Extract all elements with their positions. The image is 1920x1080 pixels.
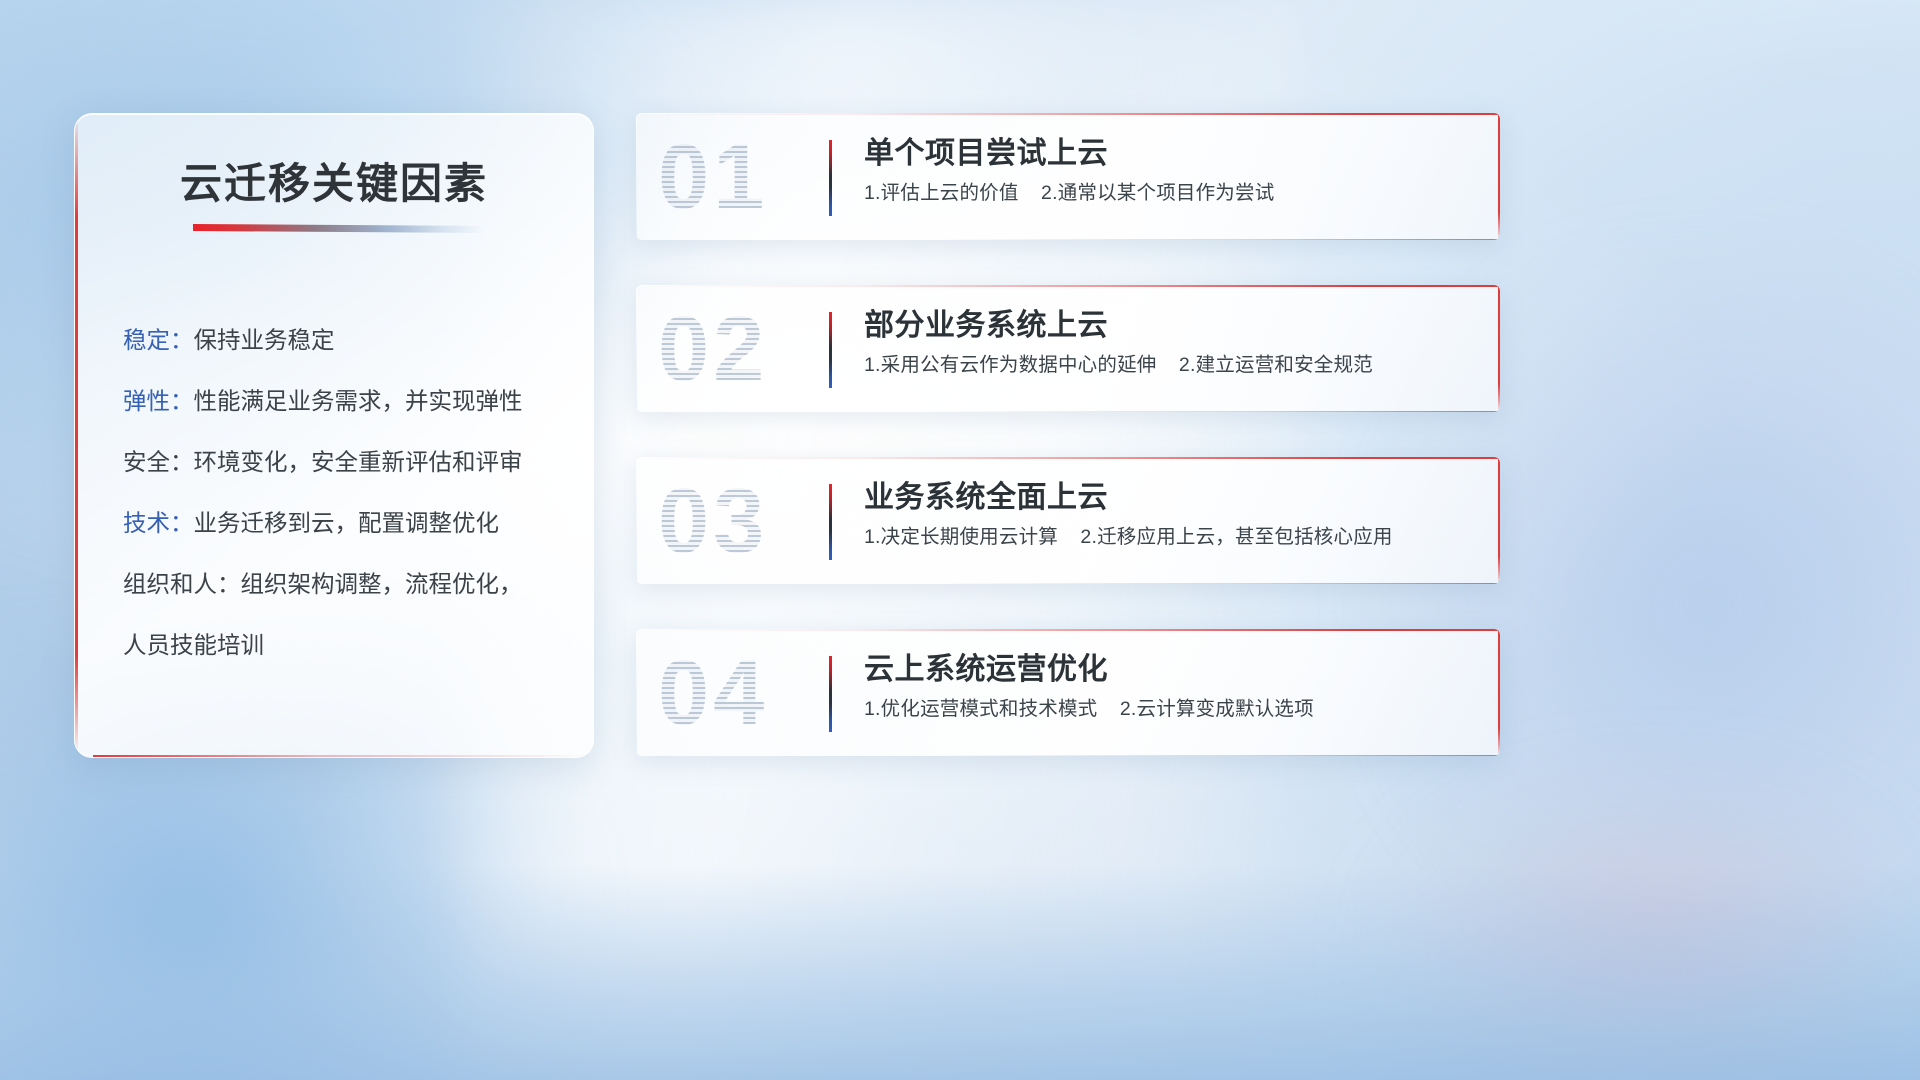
step-subtitle: 1.评估上云的价值 2.通常以某个项目作为尝试 bbox=[864, 175, 1476, 211]
step-card[interactable]: 01 01 单个项目尝试上云 1.评估上云的价值 2.通常以某个项目作为尝试 bbox=[636, 113, 1500, 240]
step-divider-line bbox=[829, 140, 832, 216]
list-item: 人员技能培训 bbox=[123, 615, 567, 676]
list-item-value: 性能满足业务需求，并实现弹性 bbox=[194, 388, 523, 414]
page-title: 云迁移关键因素 bbox=[75, 150, 593, 211]
step-title: 部分业务系统上云 bbox=[864, 305, 1476, 347]
key-factors-card: 云迁移关键因素 稳定：保持业务稳定 弹性：性能满足业务需求，并实现弹性 安全：环… bbox=[74, 113, 594, 758]
card-bottom-accent-line bbox=[930, 239, 1500, 240]
card-right-accent-line bbox=[1498, 629, 1500, 756]
card-left-edge bbox=[636, 457, 637, 584]
step-body: 业务系统全面上云 1.决定长期使用云计算 2.迁移应用上云，甚至包括核心应用 bbox=[864, 477, 1476, 555]
card-top-accent-line bbox=[636, 457, 1500, 459]
card-left-edge bbox=[636, 285, 637, 412]
card-left-edge bbox=[636, 629, 637, 756]
step-body: 部分业务系统上云 1.采用公有云作为数据中心的延伸 2.建立运营和安全规范 bbox=[864, 305, 1476, 383]
list-item: 安全：环境变化，安全重新评估和评审 bbox=[123, 432, 567, 493]
card-bottom-accent-line bbox=[930, 583, 1500, 584]
step-number: 02 bbox=[658, 303, 768, 395]
title-underline-rule bbox=[193, 224, 485, 233]
list-item: 弹性：性能满足业务需求，并实现弹性 bbox=[123, 371, 567, 432]
list-item-value: 环境变化，安全重新评估和评审 bbox=[194, 449, 523, 475]
card-right-accent-line bbox=[1498, 285, 1500, 412]
step-subtitle: 1.决定长期使用云计算 2.迁移应用上云，甚至包括核心应用 bbox=[864, 519, 1476, 555]
card-right-accent-line bbox=[1498, 113, 1500, 240]
step-subtitle: 1.优化运营模式和技术模式 2.云计算变成默认选项 bbox=[864, 691, 1476, 727]
key-factors-list: 稳定：保持业务稳定 弹性：性能满足业务需求，并实现弹性 安全：环境变化，安全重新… bbox=[123, 310, 567, 676]
list-item-key: 稳定： bbox=[123, 327, 194, 353]
list-item-value: 保持业务稳定 bbox=[194, 327, 335, 353]
step-number: 04 bbox=[658, 647, 768, 739]
card-left-edge bbox=[636, 113, 637, 240]
step-divider-line bbox=[829, 656, 832, 732]
list-item-value: 人员技能培训 bbox=[123, 632, 264, 658]
list-item-key: 安全： bbox=[123, 449, 194, 475]
step-title: 云上系统运营优化 bbox=[864, 649, 1476, 691]
step-body: 云上系统运营优化 1.优化运营模式和技术模式 2.云计算变成默认选项 bbox=[864, 649, 1476, 727]
step-divider-line bbox=[829, 312, 832, 388]
list-item-value: 业务迁移到云，配置调整优化 bbox=[194, 510, 500, 536]
list-item: 稳定：保持业务稳定 bbox=[123, 310, 567, 371]
card-right-accent-line bbox=[1498, 457, 1500, 584]
step-divider-line bbox=[829, 484, 832, 560]
card-bottom-accent-line bbox=[930, 411, 1500, 412]
step-title: 单个项目尝试上云 bbox=[864, 133, 1476, 175]
card-top-accent-line bbox=[636, 629, 1500, 631]
slide-stage: 云迁移关键因素 稳定：保持业务稳定 弹性：性能满足业务需求，并实现弹性 安全：环… bbox=[0, 0, 1920, 1080]
step-number: 01 bbox=[658, 131, 768, 223]
step-card[interactable]: 02 02 部分业务系统上云 1.采用公有云作为数据中心的延伸 2.建立运营和安… bbox=[636, 285, 1500, 412]
step-body: 单个项目尝试上云 1.评估上云的价值 2.通常以某个项目作为尝试 bbox=[864, 133, 1476, 211]
step-card[interactable]: 03 03 业务系统全面上云 1.决定长期使用云计算 2.迁移应用上云，甚至包括… bbox=[636, 457, 1500, 584]
list-item: 技术：业务迁移到云，配置调整优化 bbox=[123, 493, 567, 554]
step-card[interactable]: 04 04 云上系统运营优化 1.优化运营模式和技术模式 2.云计算变成默认选项 bbox=[636, 629, 1500, 756]
list-item-key: 弹性： bbox=[123, 388, 194, 414]
list-item-value: 组织架构调整，流程优化， bbox=[241, 571, 523, 597]
step-subtitle: 1.采用公有云作为数据中心的延伸 2.建立运营和安全规范 bbox=[864, 347, 1476, 383]
step-title: 业务系统全面上云 bbox=[864, 477, 1476, 519]
step-number: 03 bbox=[658, 475, 768, 567]
list-item-key: 组织和人： bbox=[123, 571, 241, 597]
migration-steps-list: 01 01 单个项目尝试上云 1.评估上云的价值 2.通常以某个项目作为尝试 0… bbox=[636, 113, 1500, 801]
card-top-accent-line bbox=[636, 113, 1500, 115]
card-bottom-accent-line bbox=[930, 755, 1500, 756]
card-top-accent-line bbox=[636, 285, 1500, 287]
list-item-key: 技术： bbox=[123, 510, 194, 536]
list-item: 组织和人：组织架构调整，流程优化， bbox=[123, 554, 567, 615]
